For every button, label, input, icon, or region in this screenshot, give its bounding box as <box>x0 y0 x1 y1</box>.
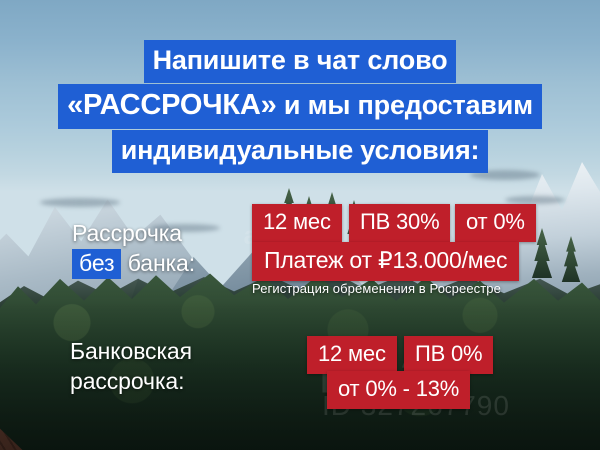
badge-term-bank: 12 мес <box>307 336 397 374</box>
badge-downpayment-bank: ПВ 0% <box>404 336 493 374</box>
headline-line-2: «РАССРОЧКА» и мы предоставим <box>58 84 542 129</box>
offer-label-no-bank-line2-rest: банка: <box>121 250 195 276</box>
headline-block: Напишите в чат слово «РАССРОЧКА» и мы пр… <box>0 40 600 174</box>
headline-line-1: Напишите в чат слово <box>144 40 457 83</box>
offer-label-bank-line2: рассрочка: <box>70 368 184 394</box>
badge-rate-bank: от 0% - 13% <box>327 371 470 409</box>
headline-line-2-wrapper: «РАССРОЧКА» и мы предоставим <box>0 84 600 129</box>
offer-label-no-bank-highlight: без <box>72 249 121 279</box>
offer-label-bank-line1: Банковская <box>70 338 192 364</box>
badge-downpayment-no-bank: ПВ 30% <box>349 204 450 242</box>
badge-term-no-bank: 12 мес <box>252 204 342 242</box>
offer-label-bank: Банковская рассрочка: <box>70 336 192 397</box>
headline-line-3-wrapper: индивидуальные условия: <box>0 130 600 173</box>
promo-banner: алтайский циан ID 327267790 Напишите в ч… <box>0 0 600 450</box>
headline-line-3: индивидуальные условия: <box>112 130 489 173</box>
headline-keyword: «РАССРОЧКА» <box>67 89 277 121</box>
badge-rate-no-bank: от 0% <box>455 204 536 242</box>
offer-caption-rosreestr: Регистрация обременения в Росреестре <box>252 281 501 296</box>
headline-line-2-rest: и мы предоставим <box>277 90 533 120</box>
badge-monthly-payment-no-bank: Платеж от ₽13.000/мес <box>252 242 519 281</box>
offer-label-no-bank: Рассрочка без банка: <box>72 218 195 279</box>
headline-line-1-wrapper: Напишите в чат слово <box>0 40 600 83</box>
snow-shadow-streak <box>40 198 120 207</box>
offer-label-no-bank-line1: Рассрочка <box>72 220 182 246</box>
snow-shadow-streak <box>505 196 565 204</box>
